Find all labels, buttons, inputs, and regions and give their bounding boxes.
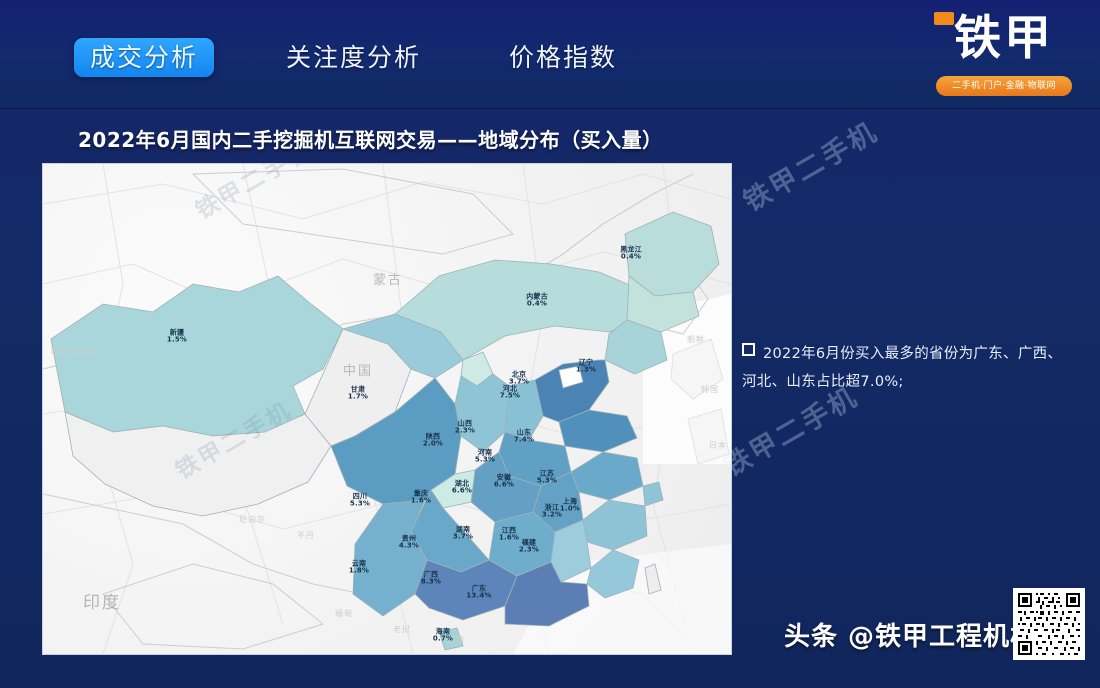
province-label-贵州: 贵州4.3% xyxy=(399,536,419,551)
province-value: 1.5% xyxy=(167,337,187,344)
province-value: 2.3% xyxy=(519,547,539,554)
basemap-label-south-korea: 韩国 xyxy=(701,384,719,395)
qr-code-image xyxy=(1016,591,1082,657)
province-label-广西: 广西8.3% xyxy=(421,572,441,587)
province-label-安徽: 安徽6.6% xyxy=(494,475,514,490)
basemap-label-china: 中国 xyxy=(343,360,373,379)
province-value: 3.7% xyxy=(453,534,473,541)
province-value: 0.4% xyxy=(526,301,548,308)
province-value: 2.0% xyxy=(423,441,443,448)
province-label-黑龙江: 黑龙江0.4% xyxy=(620,247,642,262)
province-value: 0.7% xyxy=(433,636,453,643)
province-value: 7.4% xyxy=(514,437,534,444)
basemap-label-laos: 老挝 xyxy=(393,624,411,635)
province-value: 0.4% xyxy=(620,254,642,261)
province-label-广东: 广东13.4% xyxy=(466,586,491,601)
province-label-北京: 北京3.7% xyxy=(509,372,529,387)
province-polygons[interactable] xyxy=(43,164,731,654)
province-value: 13.4% xyxy=(466,593,491,600)
province-value: 1.3% xyxy=(576,367,596,374)
map-canvas: 中国 蒙古 印度 哈萨克斯坦 尼泊尔 不丹 缅甸 老挝 越南 朝鲜 韩国 日本 … xyxy=(43,164,731,654)
province-label-陕西: 陕西2.0% xyxy=(423,434,443,449)
province-value: 1.0% xyxy=(560,506,580,513)
province-value: 1.6% xyxy=(411,498,431,505)
province-label-四川: 四川5.3% xyxy=(350,494,370,509)
province-label-福建: 福建2.3% xyxy=(519,540,539,555)
province-label-河南: 河南5.3% xyxy=(475,450,495,465)
province-label-辽宁: 辽宁1.3% xyxy=(576,360,596,375)
nav-tabs: 成交分析 关注度分析 价格指数 xyxy=(74,38,633,77)
province-value: 6.6% xyxy=(494,482,514,489)
presentation-slide: 成交分析 关注度分析 价格指数 铁甲 二手机·门户·金融·物联网 2022年6月… xyxy=(0,0,1100,688)
basemap-label-myanmar: 缅甸 xyxy=(335,608,353,619)
province-label-江西: 江西1.6% xyxy=(499,528,519,543)
top-navigation-bar: 成交分析 关注度分析 价格指数 铁甲 二手机·门户·金融·物联网 xyxy=(0,0,1100,109)
logo-tagline-badge: 二手机·门户·金融·物联网 xyxy=(936,76,1072,96)
province-label-湖南: 湖南3.7% xyxy=(453,527,473,542)
logo-wordmark: 铁甲 xyxy=(932,8,1076,70)
province-label-海南: 海南0.7% xyxy=(433,629,453,644)
insight-note: 2022年6月份买入最多的省份为广东、广西、河北、山东占比超7.0%; xyxy=(742,340,1072,397)
province-label-山东: 山东7.4% xyxy=(514,430,534,445)
province-label-云南: 云南1.8% xyxy=(349,561,369,576)
province-value: 1.7% xyxy=(348,394,368,401)
basemap-label-mongolia: 蒙古 xyxy=(373,269,403,288)
province-label-重庆: 重庆1.6% xyxy=(411,491,431,506)
choropleth-map-panel[interactable]: 中国 蒙古 印度 哈萨克斯坦 尼泊尔 不丹 缅甸 老挝 越南 朝鲜 韩国 日本 … xyxy=(42,163,732,655)
basemap-label-bhutan: 不丹 xyxy=(297,530,315,541)
province-value: 7.5% xyxy=(500,393,520,400)
province-value: 5.3% xyxy=(537,478,557,485)
province-label-江苏: 江苏5.3% xyxy=(537,471,557,486)
qr-code[interactable] xyxy=(1013,588,1085,660)
basemap-label-india: 印度 xyxy=(83,588,121,613)
province-value: 3.7% xyxy=(509,379,529,386)
province-label-河北: 河北7.5% xyxy=(500,386,520,401)
province-label-内蒙古: 内蒙古0.4% xyxy=(526,294,548,309)
province-label-湖北: 湖北6.6% xyxy=(452,481,472,496)
insight-note-text: 2022年6月份买入最多的省份为广东、广西、河北、山东占比超7.0%; xyxy=(742,346,1062,390)
basemap-label-north-korea: 朝鲜 xyxy=(687,334,705,345)
basemap-label-nepal: 尼泊尔 xyxy=(239,514,266,525)
tab-deal-analysis[interactable]: 成交分析 xyxy=(74,38,214,77)
province-value: 6.6% xyxy=(452,488,472,495)
watermark-1: 铁甲二手机 xyxy=(735,110,884,219)
province-value: 8.3% xyxy=(421,579,441,586)
province-value: 5.3% xyxy=(350,501,370,508)
tab-price-index[interactable]: 价格指数 xyxy=(493,38,633,77)
chart-title: 2022年6月国内二手挖掘机互联网交易——地域分布（买入量） xyxy=(78,124,663,153)
province-value: 1.6% xyxy=(499,535,519,542)
tab-attention-analysis[interactable]: 关注度分析 xyxy=(270,38,437,77)
province-value: 4.3% xyxy=(399,543,419,550)
province-value: 5.3% xyxy=(475,457,495,464)
square-bullet-icon xyxy=(742,343,755,356)
province-label-上海: 上海1.0% xyxy=(560,499,580,514)
basemap-label-kazakhstan: 哈萨克斯坦 xyxy=(51,346,96,357)
province-value: 2.3% xyxy=(455,428,475,435)
brand-logo[interactable]: 铁甲 二手机·门户·金融·物联网 xyxy=(928,8,1078,104)
province-label-甘肃: 甘肃1.7% xyxy=(348,387,368,402)
basemap-label-japan: 日本 xyxy=(709,440,727,451)
province-value: 1.8% xyxy=(349,568,369,575)
province-label-山西: 山西2.3% xyxy=(455,421,475,436)
province-label-新疆: 新疆1.5% xyxy=(167,330,187,345)
